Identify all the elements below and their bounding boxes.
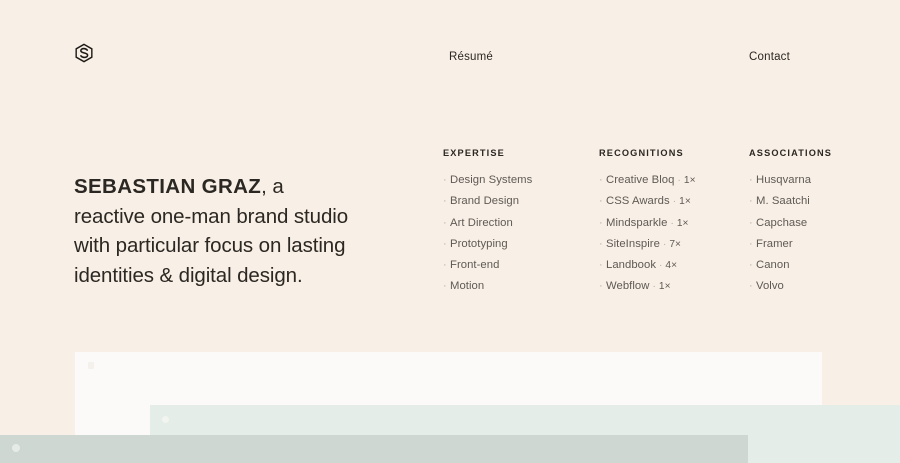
list-item-label: Landbook bbox=[606, 259, 656, 271]
bullet-icon: · bbox=[599, 239, 606, 250]
list-item[interactable]: ·M. Saatchi bbox=[749, 195, 832, 216]
bullet-icon: · bbox=[749, 239, 756, 250]
list-item-count: 1× bbox=[679, 196, 691, 207]
bullet-icon: · bbox=[749, 260, 756, 271]
separator: · bbox=[670, 196, 679, 207]
list-item[interactable]: ·Design Systems bbox=[443, 174, 532, 195]
bullet-icon: · bbox=[749, 218, 756, 229]
column-title-associations: ASSOCIATIONS bbox=[749, 148, 832, 158]
list-item[interactable]: ·Capchase bbox=[749, 217, 832, 238]
list-item-label: Canon bbox=[756, 259, 790, 271]
list-item[interactable]: ·Art Direction bbox=[443, 217, 532, 238]
separator: · bbox=[667, 218, 676, 229]
list-item[interactable]: ·Volvo bbox=[749, 280, 832, 301]
column-associations: ASSOCIATIONS ·Husqvarna ·M. Saatchi ·Cap… bbox=[749, 148, 832, 302]
bullet-icon: · bbox=[749, 175, 756, 186]
list-item-label: Framer bbox=[756, 238, 793, 250]
panel-marker-icon bbox=[162, 416, 169, 423]
separator: · bbox=[674, 175, 683, 186]
list-item[interactable]: ·Motion bbox=[443, 280, 532, 301]
list-item-label: Brand Design bbox=[450, 195, 519, 207]
list-item-label: Capchase bbox=[756, 217, 807, 229]
list-item[interactable]: ·Husqvarna bbox=[749, 174, 832, 195]
list-item-label: Art Direction bbox=[450, 217, 513, 229]
list-associations: ·Husqvarna ·M. Saatchi ·Capchase ·Framer… bbox=[749, 174, 832, 302]
list-item-count: 1× bbox=[684, 175, 696, 186]
list-item-label: Webflow bbox=[606, 280, 649, 292]
bullet-icon: · bbox=[443, 281, 450, 292]
list-item-label: SiteInspire bbox=[606, 238, 660, 250]
list-item[interactable]: ·CSS Awards·1× bbox=[599, 195, 696, 216]
bullet-icon: · bbox=[443, 260, 450, 271]
project-panel-tertiary[interactable] bbox=[0, 435, 748, 463]
panel-marker-icon bbox=[88, 362, 94, 369]
nav-link-contact[interactable]: Contact bbox=[749, 51, 790, 63]
list-item-label: Creative Bloq bbox=[606, 174, 674, 186]
list-item-label: Motion bbox=[450, 280, 484, 292]
list-item-count: 1× bbox=[677, 218, 689, 229]
list-item[interactable]: ·Mindsparkle·1× bbox=[599, 217, 696, 238]
list-item-label: Volvo bbox=[756, 280, 784, 292]
studio-name: SEBASTIAN GRAZ bbox=[74, 175, 261, 198]
bullet-icon: · bbox=[599, 260, 606, 271]
bullet-icon: · bbox=[599, 175, 606, 186]
separator: · bbox=[660, 239, 669, 250]
list-expertise: ·Design Systems ·Brand Design ·Art Direc… bbox=[443, 174, 532, 302]
bullet-icon: · bbox=[749, 196, 756, 207]
list-item-count: 7× bbox=[669, 239, 681, 250]
column-recognitions: RECOGNITIONS ·Creative Bloq·1× ·CSS Awar… bbox=[599, 148, 696, 302]
list-item-count: 4× bbox=[665, 260, 677, 271]
list-item-label: Prototyping bbox=[450, 238, 508, 250]
list-item[interactable]: ·Front-end bbox=[443, 259, 532, 280]
list-item-label: Design Systems bbox=[450, 174, 532, 186]
column-title-expertise: EXPERTISE bbox=[443, 148, 532, 158]
list-item[interactable]: ·Creative Bloq·1× bbox=[599, 174, 696, 195]
monogram-logo-glyph bbox=[74, 43, 94, 63]
list-item[interactable]: ·Prototyping bbox=[443, 238, 532, 259]
column-title-recognitions: RECOGNITIONS bbox=[599, 148, 696, 158]
bullet-icon: · bbox=[599, 281, 606, 292]
bullet-icon: · bbox=[749, 281, 756, 292]
bullet-icon: · bbox=[443, 175, 450, 186]
bullet-icon: · bbox=[443, 218, 450, 229]
list-item-label: M. Saatchi bbox=[756, 195, 810, 207]
list-item[interactable]: ·Canon bbox=[749, 259, 832, 280]
list-item[interactable]: ·Webflow·1× bbox=[599, 280, 696, 301]
list-item[interactable]: ·SiteInspire·7× bbox=[599, 238, 696, 259]
list-recognitions: ·Creative Bloq·1× ·CSS Awards·1× ·Mindsp… bbox=[599, 174, 696, 302]
column-expertise: EXPERTISE ·Design Systems ·Brand Design … bbox=[443, 148, 532, 302]
bullet-icon: · bbox=[443, 239, 450, 250]
separator: · bbox=[656, 260, 665, 271]
bullet-icon: · bbox=[443, 196, 450, 207]
list-item[interactable]: ·Landbook·4× bbox=[599, 259, 696, 280]
list-item-count: 1× bbox=[659, 281, 671, 292]
list-item-label: Front-end bbox=[450, 259, 499, 271]
monogram-logo-icon[interactable] bbox=[74, 43, 94, 63]
list-item[interactable]: ·Brand Design bbox=[443, 195, 532, 216]
list-item-label: CSS Awards bbox=[606, 195, 670, 207]
separator: · bbox=[649, 281, 658, 292]
bullet-icon: · bbox=[599, 218, 606, 229]
page-title: SEBASTIAN GRAZ, a reactive one-man brand… bbox=[74, 172, 349, 290]
list-item-label: Mindsparkle bbox=[606, 217, 667, 229]
bullet-icon: · bbox=[599, 196, 606, 207]
nav-link-resume[interactable]: Résumé bbox=[449, 51, 493, 63]
panel-marker-icon bbox=[12, 444, 20, 452]
portfolio-landing-page: Résumé Contact SEBASTIAN GRAZ, a reactiv… bbox=[0, 0, 900, 463]
list-item[interactable]: ·Framer bbox=[749, 238, 832, 259]
list-item-label: Husqvarna bbox=[756, 174, 811, 186]
